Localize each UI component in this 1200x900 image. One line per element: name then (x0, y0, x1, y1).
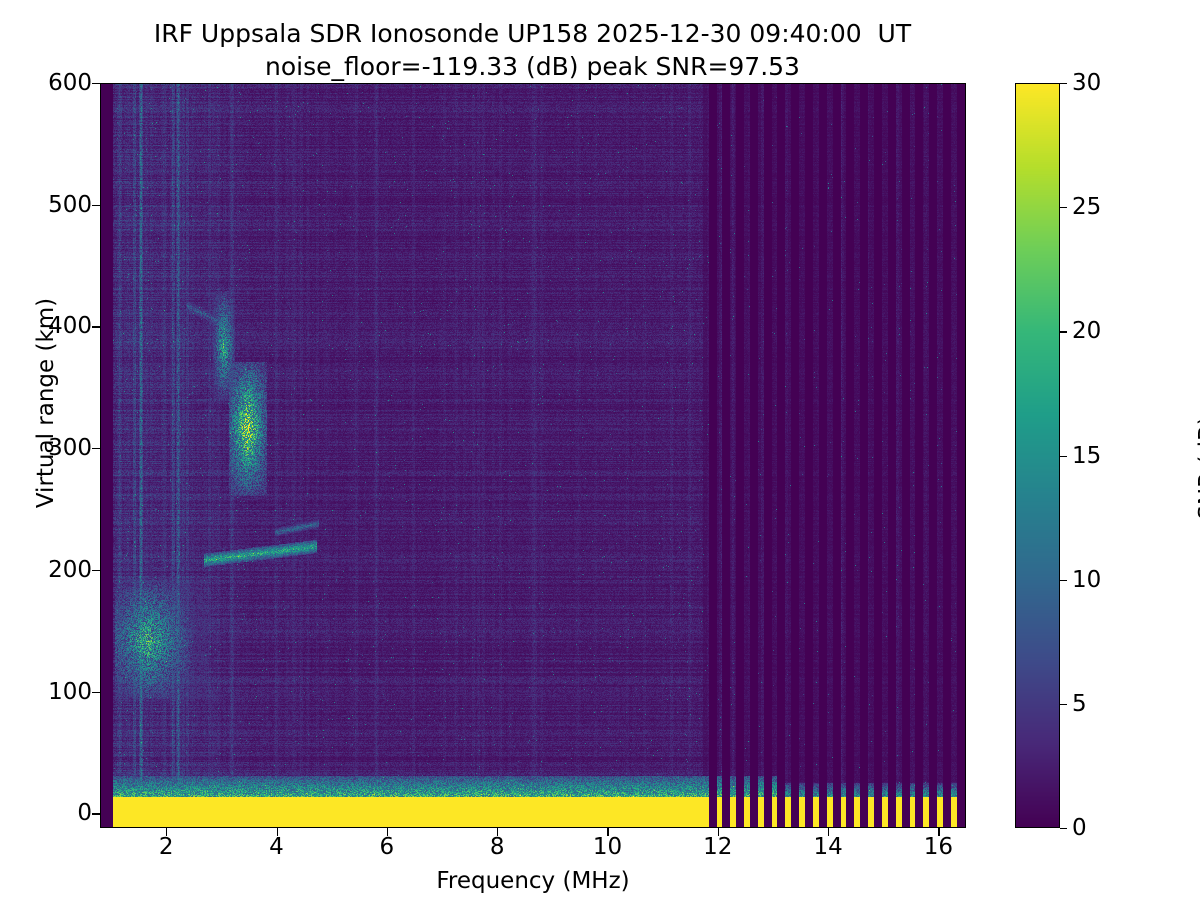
y-tick-label-300: 300 (48, 435, 92, 461)
title-line-2: noise_floor=-119.33 (dB) peak SNR=97.53 (0, 51, 1065, 84)
colorbar-tick-mark-10 (1060, 580, 1067, 581)
colorbar-tick-mark-25 (1060, 207, 1067, 208)
colorbar-tick-label-15: 15 (1072, 443, 1101, 469)
y-axis-label: Virtual range (km) (33, 23, 59, 783)
x-tick-mark-6 (387, 828, 388, 836)
x-tick-label-16: 16 (924, 834, 953, 860)
ionogram-figure: IRF Uppsala SDR Ionosonde UP158 2025-12-… (0, 0, 1200, 900)
y-tick-mark-400 (92, 326, 100, 327)
colorbar-tick-label-20: 20 (1072, 318, 1101, 344)
colorbar-tick-label-30: 30 (1072, 70, 1101, 96)
y-tick-mark-200 (92, 570, 100, 571)
x-tick-mark-8 (497, 828, 498, 836)
colorbar-tick-mark-30 (1060, 83, 1067, 84)
y-tick-mark-100 (92, 692, 100, 693)
colorbar-tick-label-0: 0 (1072, 815, 1087, 841)
title-line-1: IRF Uppsala SDR Ionosonde UP158 2025-12-… (0, 18, 1065, 51)
y-tick-mark-300 (92, 448, 100, 449)
x-tick-label-8: 8 (490, 834, 505, 860)
x-tick-mark-14 (828, 828, 829, 836)
colorbar[interactable] (1015, 83, 1060, 828)
x-tick-mark-2 (166, 828, 167, 836)
x-tick-label-10: 10 (593, 834, 622, 860)
colorbar-gradient (1016, 84, 1059, 827)
colorbar-tick-mark-5 (1060, 704, 1067, 705)
colorbar-tick-mark-20 (1060, 331, 1067, 332)
x-tick-mark-12 (718, 828, 719, 836)
figure-title: IRF Uppsala SDR Ionosonde UP158 2025-12-… (0, 18, 1065, 83)
x-tick-mark-4 (277, 828, 278, 836)
ionogram-heatmap[interactable] (101, 84, 966, 828)
y-tick-mark-600 (92, 83, 100, 84)
y-tick-label-400: 400 (48, 313, 92, 339)
y-tick-label-0: 0 (77, 800, 92, 826)
x-tick-label-14: 14 (813, 834, 842, 860)
x-tick-label-6: 6 (379, 834, 394, 860)
colorbar-tick-label-5: 5 (1072, 691, 1087, 717)
x-tick-mark-16 (938, 828, 939, 836)
x-axis-label: Frequency (MHz) (100, 868, 966, 894)
x-tick-mark-10 (607, 828, 608, 836)
y-tick-label-100: 100 (48, 679, 92, 705)
y-tick-label-200: 200 (48, 557, 92, 583)
x-tick-label-4: 4 (269, 834, 284, 860)
x-tick-label-2: 2 (159, 834, 174, 860)
y-tick-mark-500 (92, 205, 100, 206)
y-tick-mark-0 (92, 813, 100, 814)
y-tick-label-600: 600 (48, 70, 92, 96)
colorbar-tick-mark-0 (1060, 828, 1067, 829)
colorbar-label: SNR (dB) (1195, 88, 1200, 848)
colorbar-tick-label-25: 25 (1072, 194, 1101, 220)
colorbar-tick-mark-15 (1060, 456, 1067, 457)
ionogram-plot-area[interactable] (100, 83, 966, 828)
x-tick-label-12: 12 (703, 834, 732, 860)
y-tick-label-500: 500 (48, 192, 92, 218)
colorbar-tick-label-10: 10 (1072, 567, 1101, 593)
